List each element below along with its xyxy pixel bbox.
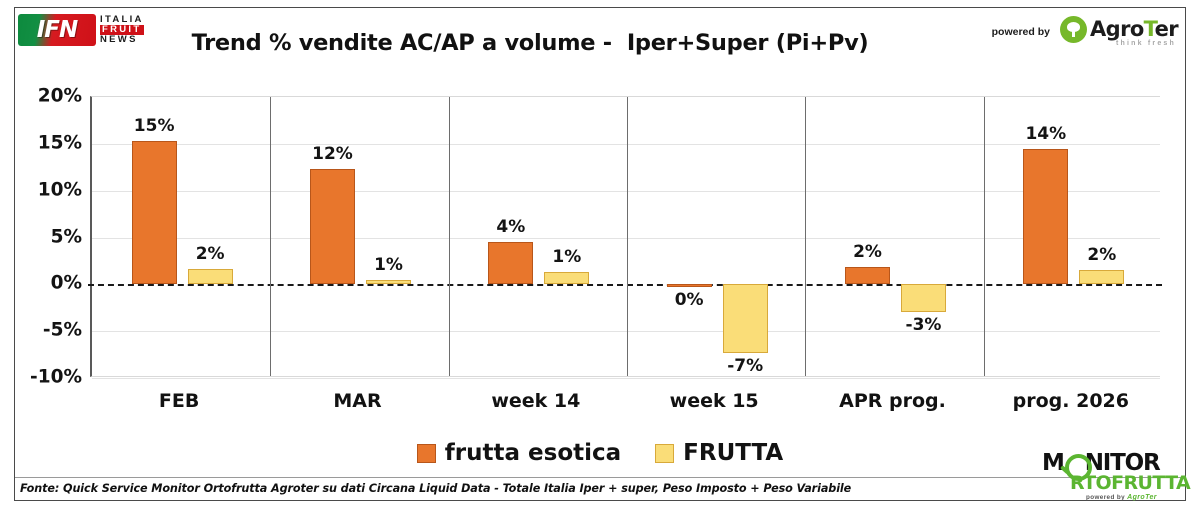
category-separator — [627, 97, 628, 376]
bar-value-label: 1% — [357, 255, 420, 275]
bar-esotica[interactable] — [132, 141, 177, 284]
legend-label: frutta esotica — [445, 440, 621, 466]
legend-swatch-icon — [655, 444, 674, 463]
bar-frutta[interactable] — [723, 284, 768, 352]
legend-item[interactable]: FRUTTA — [655, 440, 783, 466]
ifn-wordmark: ITALIA FRUIT NEWS — [100, 15, 144, 45]
bar-value-label: 15% — [123, 116, 186, 136]
bar-value-label: -3% — [892, 315, 955, 335]
bar-value-label: 1% — [535, 247, 598, 267]
bar-value-label: 14% — [1014, 124, 1077, 144]
bar-esotica[interactable] — [1023, 149, 1068, 284]
agroter-tagline: think fresh — [1116, 40, 1176, 47]
bar-esotica[interactable] — [845, 267, 890, 285]
gridline — [92, 378, 1160, 379]
legend-swatch-icon — [417, 444, 436, 463]
category-separator — [805, 97, 806, 376]
bar-esotica[interactable] — [667, 284, 712, 287]
gridline — [92, 331, 1160, 332]
bar-value-label: 4% — [479, 217, 542, 237]
bar-value-label: 2% — [836, 242, 899, 262]
gridline — [92, 144, 1160, 145]
slide-root: IFN ITALIA FRUIT NEWS Trend % vendite AC… — [0, 0, 1200, 508]
source-note: Fonte: Quick Service Monitor Ortofrutta … — [20, 482, 851, 495]
ifn-badge-icon: IFN — [18, 14, 96, 46]
plot-area: 15%2%12%1%4%1%0%-7%2%-3%14%2% — [90, 96, 1160, 377]
y-tick-label: 5% — [51, 226, 82, 247]
magnifier-icon — [1065, 454, 1084, 473]
x-tick-label: APR prog. — [839, 390, 946, 412]
bar-value-label: 2% — [1070, 245, 1133, 265]
monitor-powered-by: powered by AgroTer — [1086, 494, 1180, 501]
category-separator — [449, 97, 450, 376]
bar-frutta[interactable] — [188, 269, 233, 284]
bar-value-label: 2% — [179, 244, 242, 264]
y-tick-label: 10% — [38, 179, 82, 200]
y-tick-label: -5% — [43, 320, 82, 341]
y-tick-label: 20% — [38, 86, 82, 107]
x-tick-label: week 14 — [491, 390, 580, 412]
zero-baseline — [88, 284, 1162, 286]
ifn-monogram: IFN — [37, 17, 78, 43]
legend-item[interactable]: frutta esotica — [417, 440, 621, 466]
bar-esotica[interactable] — [310, 169, 355, 284]
ifn-logo: IFN ITALIA FRUIT NEWS — [18, 10, 144, 50]
x-axis-labels: FEBMARweek 14week 15APR prog.prog. 2026 — [90, 390, 1160, 420]
x-tick-label: MAR — [333, 390, 381, 412]
legend-label: FRUTTA — [683, 440, 783, 466]
y-axis-labels: 20%15%10%5%0%-5%-10% — [12, 96, 82, 377]
y-tick-label: 15% — [38, 132, 82, 153]
monitor-ortofrutta-logo: M NITOR RTOFRUTTA powered by AgroTer — [1042, 452, 1180, 498]
bar-esotica[interactable] — [488, 242, 533, 284]
chart-title: Trend % vendite AC/AP a volume - Iper+Su… — [150, 30, 910, 56]
y-tick-label: -10% — [30, 367, 82, 388]
bar-frutta[interactable] — [366, 280, 411, 285]
footer-divider — [15, 477, 1185, 478]
bar-value-label: -7% — [714, 356, 777, 376]
x-tick-label: FEB — [159, 390, 199, 412]
bar-frutta[interactable] — [1079, 270, 1124, 284]
gridline — [92, 238, 1160, 239]
chart-legend: frutta esoticaFRUTTA — [0, 440, 1200, 466]
powered-by-label: powered by — [992, 26, 1050, 38]
x-tick-label: prog. 2026 — [1013, 390, 1129, 412]
bar-value-label: 12% — [301, 144, 364, 164]
bar-frutta[interactable] — [901, 284, 946, 312]
gridline — [92, 191, 1160, 192]
bar-value-label: 0% — [658, 290, 721, 310]
ifn-word-news: NEWS — [100, 35, 144, 45]
bar-frutta[interactable] — [544, 272, 589, 284]
agroter-logo: AgroTer — [1060, 16, 1178, 43]
x-tick-label: week 15 — [670, 390, 759, 412]
y-tick-label: 0% — [51, 273, 82, 294]
monitor-letter-m: M — [1042, 452, 1064, 475]
agroter-tree-icon — [1060, 16, 1087, 43]
category-separator — [984, 97, 985, 376]
category-separator — [270, 97, 271, 376]
agroter-wordmark: AgroTer — [1090, 19, 1178, 40]
